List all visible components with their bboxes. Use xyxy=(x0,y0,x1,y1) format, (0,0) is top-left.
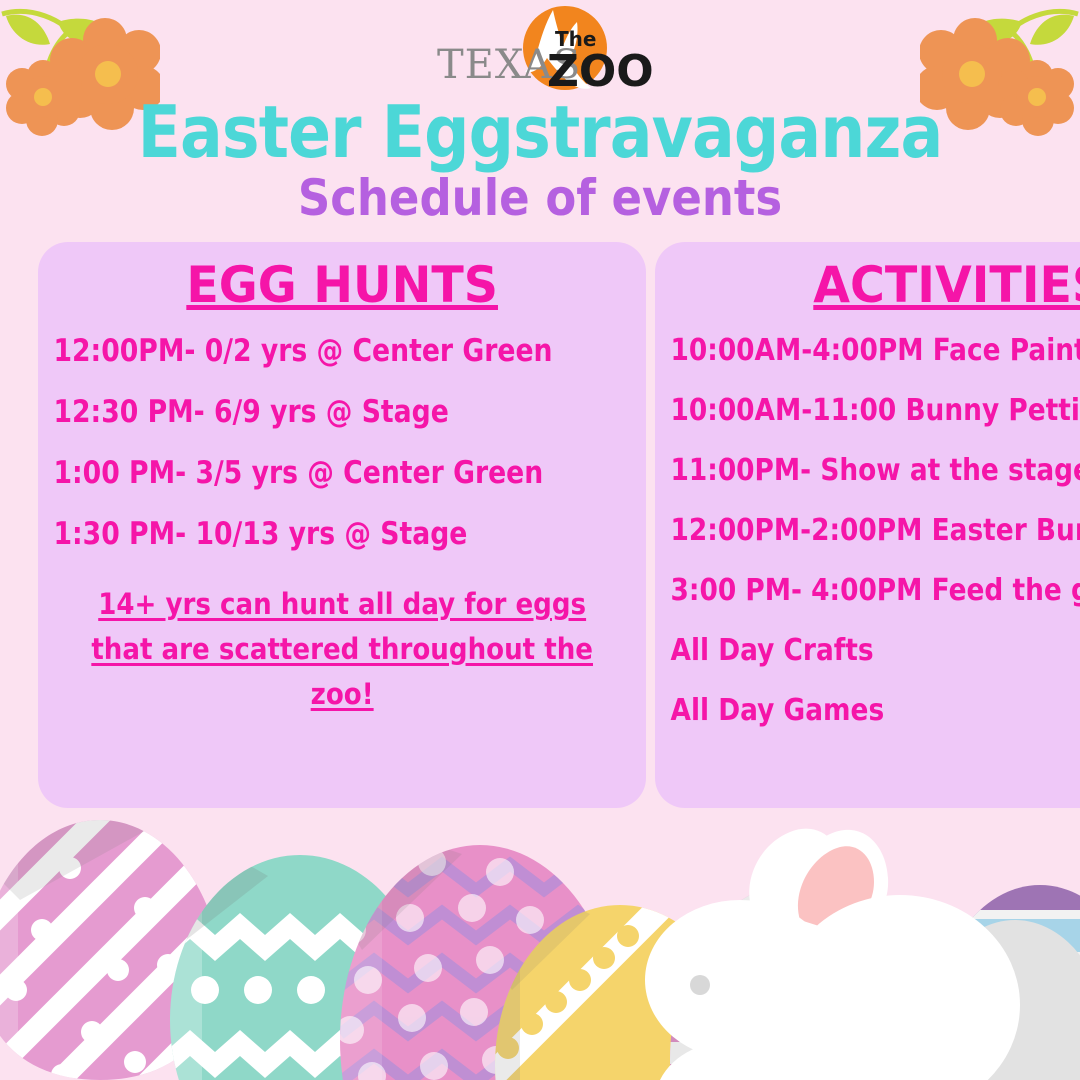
list-item: 3:00 PM- 4:00PM Feed the goats xyxy=(667,576,1080,636)
list-item: All Day Games xyxy=(667,696,1080,756)
flower-center xyxy=(95,61,121,87)
card-heading-egg-hunts: EGG HUNTS xyxy=(65,256,620,314)
list-item: All Day Crafts xyxy=(667,636,1080,696)
poster-canvas: TEXAS The ZOO Easter Eggstravaganza Sche… xyxy=(0,0,1080,1080)
title-block: Easter Eggstravaganza Schedule of events xyxy=(0,98,1080,225)
list-item: 1:30 PM- 10/13 yrs @ Stage xyxy=(50,519,553,580)
list-item: 12:30 PM- 6/9 yrs @ Stage xyxy=(50,397,553,458)
bottom-decoration xyxy=(0,790,1080,1080)
egg-hunt-list: 12:00PM- 0/2 yrs @ Center Green 12:30 PM… xyxy=(50,336,634,580)
list-item: 10:00AM-4:00PM Face Painting xyxy=(667,336,1080,396)
schedule-cards: EGG HUNTS 12:00PM- 0/2 yrs @ Center Gree… xyxy=(38,242,1057,808)
list-item: 10:00AM-11:00 Bunny Petting Zoo xyxy=(667,396,1080,456)
activities-list: 10:00AM-4:00PM Face Painting 10:00AM-11:… xyxy=(667,336,1080,756)
list-item: 1:00 PM- 3/5 yrs @ Center Green xyxy=(50,458,553,519)
page-title: Easter Eggstravaganza xyxy=(65,98,1015,166)
list-item: 12:00PM-2:00PM Easter Bunny xyxy=(667,516,1080,576)
bunny-eye xyxy=(690,975,710,995)
flower-center xyxy=(959,61,985,87)
list-item: 11:00PM- Show at the stage xyxy=(667,456,1080,516)
card-egg-hunts: EGG HUNTS 12:00PM- 0/2 yrs @ Center Gree… xyxy=(38,242,646,808)
page-subtitle: Schedule of events xyxy=(54,172,1026,225)
bunny-head xyxy=(645,900,835,1060)
easter-bunny xyxy=(645,829,1020,1080)
list-item: 12:00PM- 0/2 yrs @ Center Green xyxy=(50,336,553,397)
egg-hunt-note: 14+ yrs can hunt all day for eggs that a… xyxy=(79,580,605,717)
card-heading-activities: ACTIVITIES xyxy=(682,256,1080,314)
card-activities: ACTIVITIES 10:00AM-4:00PM Face Painting … xyxy=(655,242,1080,808)
